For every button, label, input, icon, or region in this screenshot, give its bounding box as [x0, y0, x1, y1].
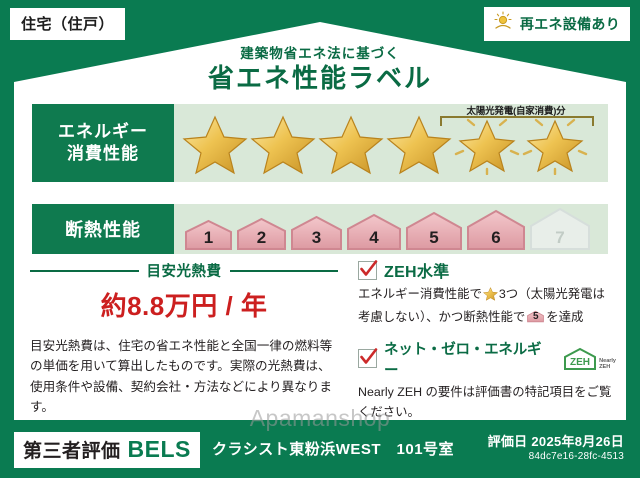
renewable-equipment-badge: 再エネ設備あり: [484, 7, 630, 41]
utility-cost-panel: 目安光熱費 約8.8万円 / 年 目安光熱費は、住宅の省エネ性能と全国一律の燃料…: [30, 260, 338, 418]
insulation-level-6-num: 6: [466, 228, 526, 248]
title-main: 省エネ性能ラベル: [0, 58, 640, 95]
star-3: [318, 111, 384, 175]
insulation-level-5: 5: [405, 211, 463, 251]
star-2: [250, 111, 316, 175]
property-name: クラシスト東粉浜WEST 101号室: [212, 438, 454, 459]
insulation-level-7: 7: [529, 207, 591, 251]
energy-stars-area: 太陽光発電(自家消費)分: [174, 104, 608, 182]
insulation-level-1-num: 1: [184, 228, 233, 248]
evaluation-date: 評価日 2025年8月26日: [488, 431, 624, 450]
star-5-solar: [454, 111, 520, 175]
insulation-level-1: 1: [184, 219, 233, 251]
insulation-level-4-num: 4: [346, 228, 402, 248]
bels-energy-label: 住宅（住戸） 再エネ設備あり 建築物省エネ法に基づく 省エネ性能ラベル エネルギ…: [0, 0, 640, 478]
zeh-body-part3: を達成: [546, 310, 583, 324]
energy-performance-label: エネルギー 消費性能: [32, 104, 174, 182]
cost-rule-right: [230, 270, 339, 272]
bels-badge: 第三者評価 BELS: [14, 432, 200, 468]
insulation-level-5-num: 5: [405, 228, 463, 248]
star-1: [182, 111, 248, 175]
zeh-standard-checkbox: [358, 261, 377, 280]
watermark: Apamanshop: [0, 405, 640, 432]
insulation-level-6: 6: [466, 209, 526, 251]
inline-star-icon: [483, 286, 498, 308]
zeh-standard-body: エネルギー消費性能で3つ（太陽光発電は考慮しない）、かつ断熱性能で5を達成: [358, 285, 616, 328]
utility-cost-heading: 目安光熱費: [30, 260, 338, 281]
zeh-house-logo-icon: ZEH Nearly ZEH: [563, 347, 616, 371]
insulation-house-scale: 1 2 3 4 5: [174, 207, 591, 251]
cost-rule-left: [30, 270, 139, 272]
cost-heading-text: 目安光熱費: [147, 260, 222, 281]
insulation-level-3: 3: [290, 215, 343, 251]
evaluation-id: 84dc7e16-28fc-4513: [529, 451, 624, 462]
svg-text:ZEH: ZEH: [570, 357, 590, 368]
insulation-level-2-num: 2: [236, 228, 287, 248]
utility-cost-value: 約8.8万円 / 年: [30, 286, 338, 323]
zeh-body-part1: エネルギー消費性能で: [358, 287, 482, 301]
zeh-logo-subtext: Nearly ZEH: [599, 359, 616, 371]
sun-icon: [492, 11, 514, 36]
renewable-badge-label: 再エネ設備あり: [520, 14, 620, 34]
zeh-netzero-title: ネット・ゼロ・エネルギー: [384, 338, 553, 380]
insulation-performance-label: 断熱性能: [32, 204, 174, 254]
bels-badge-en: BELS: [128, 436, 191, 463]
bels-badge-jp: 第三者評価: [23, 436, 121, 463]
energy-label-line2: 消費性能: [67, 143, 139, 165]
zeh-standard-title: ZEH水準: [384, 258, 450, 282]
inline-house-level: 5: [527, 309, 544, 325]
star-6-solar: [522, 111, 588, 175]
zeh-netzero-checkbox: [358, 349, 377, 368]
insulation-scale-area: 1 2 3 4 5: [174, 204, 608, 254]
insulation-performance-row: 断熱性能 1 2 3 4: [32, 204, 608, 254]
insulation-level-2: 2: [236, 217, 287, 251]
zeh-logo-sub2: ZEH: [599, 364, 610, 370]
insulation-level-7-num: 7: [529, 228, 591, 248]
zeh-netzero-heading: ネット・ゼロ・エネルギー ZEH Nearly ZEH: [358, 338, 616, 380]
star-4: [386, 111, 452, 175]
energy-performance-row: エネルギー 消費性能 太陽光発電(自家消費)分: [32, 104, 608, 182]
insulation-level-3-num: 3: [290, 228, 343, 248]
insulation-level-4: 4: [346, 213, 402, 251]
zeh-standard-block: ZEH水準 エネルギー消費性能で3つ（太陽光発電は考慮しない）、かつ断熱性能で5…: [358, 258, 616, 328]
housing-type-tag: 住宅（住戸）: [10, 8, 125, 40]
zeh-standard-heading: ZEH水準: [358, 258, 616, 282]
inline-house-icon: 5: [527, 308, 544, 325]
energy-label-line1: エネルギー: [58, 121, 148, 143]
star-rating: [174, 111, 588, 175]
zeh-body-star-count: 3つ（太陽光発電: [499, 287, 593, 301]
